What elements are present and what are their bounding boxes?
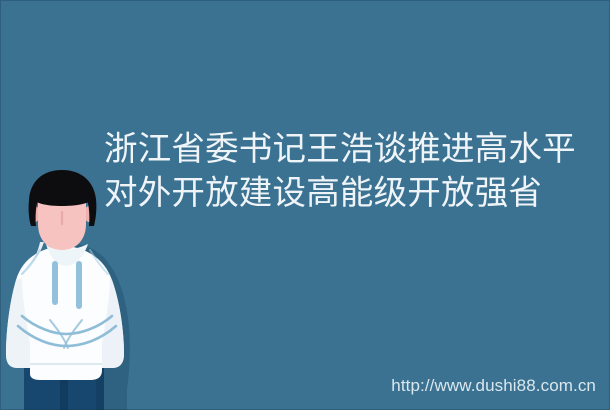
article-cover-image: 浙江省委书记王浩谈推进高水平对外开放建设高能级开放强省 http://www.d… [0,0,610,410]
head [29,170,97,250]
watermark-url: http://www.dushi88.com.cn [391,376,596,396]
page-title: 浙江省委书记王浩谈推进高水平对外开放建设高能级开放强省 [104,128,600,216]
